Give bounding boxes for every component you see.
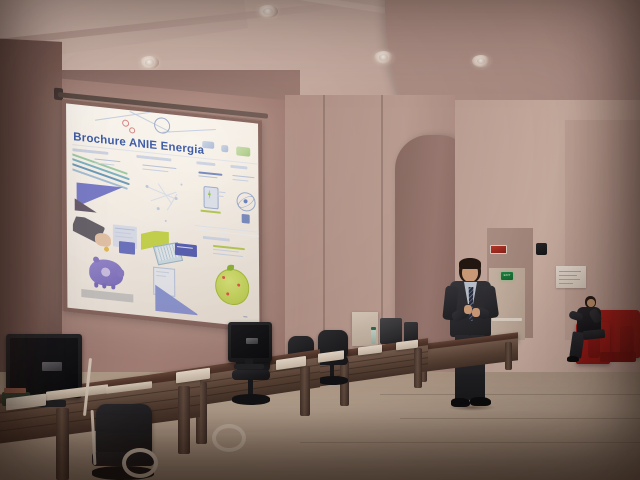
coiled-cable [212,424,246,452]
brochure-cell [73,216,138,309]
av-equipment [380,318,402,344]
attendee-shoe [567,356,579,362]
ceiling-downlight-icon [258,5,278,18]
coiled-cable [122,448,158,478]
brochure-header [230,165,247,170]
chair-base [232,394,270,405]
projected-slide: Brochure ANIE Energia [66,103,259,327]
water-bottle[interactable] [371,330,376,344]
ceiling-downlight-icon [140,56,159,69]
chair-base [318,376,348,385]
seated-attendee [565,296,611,366]
presenter-hand [472,308,480,317]
monitor-label [42,362,62,371]
brochure-cell [203,236,260,326]
slide-deco-ring [154,117,170,135]
desk-leg [505,342,512,370]
ceiling-downlight-icon [472,55,490,67]
monitor-foot [234,364,264,369]
presentation-room-photo: Brochure ANIE Energia [0,0,640,480]
brochure-cell [141,229,198,319]
presenter-shadow [448,404,496,411]
presenter-head [459,258,481,283]
desk-leg [414,348,422,388]
bottle-cap [371,327,376,330]
emergency-exit-icon: EXIT [501,272,513,280]
wall-notice-poster [556,266,586,288]
slide-deco-ring [122,119,129,127]
attendee-leg [583,329,606,340]
desk-leg [300,366,310,416]
ceiling-speaker [536,243,547,255]
slide-deco-line [162,129,215,133]
desk-leg [56,408,69,480]
anie-logo-icon [202,141,214,149]
desk-device-top [4,388,26,393]
brochure-header [136,155,171,162]
exit-sign-label: EXIT [501,272,513,279]
monitor-label [246,338,258,344]
slide-deco-ring [129,127,135,134]
brochure-cell [72,148,131,226]
desk-leg [178,386,190,454]
brochure-header [203,236,230,242]
monitor-center[interactable] [228,322,272,362]
presenter-hand [464,305,472,314]
anie-energia-logo-icon [236,146,250,156]
ceiling-downlight-icon [374,51,393,64]
brochure-header [72,148,108,155]
brochure-cell [136,155,193,233]
partner-logo-icon [221,145,228,153]
projection-screen: Brochure ANIE Energia [62,99,263,332]
fire-alarm-box [490,245,507,254]
brochure-header [196,161,215,166]
